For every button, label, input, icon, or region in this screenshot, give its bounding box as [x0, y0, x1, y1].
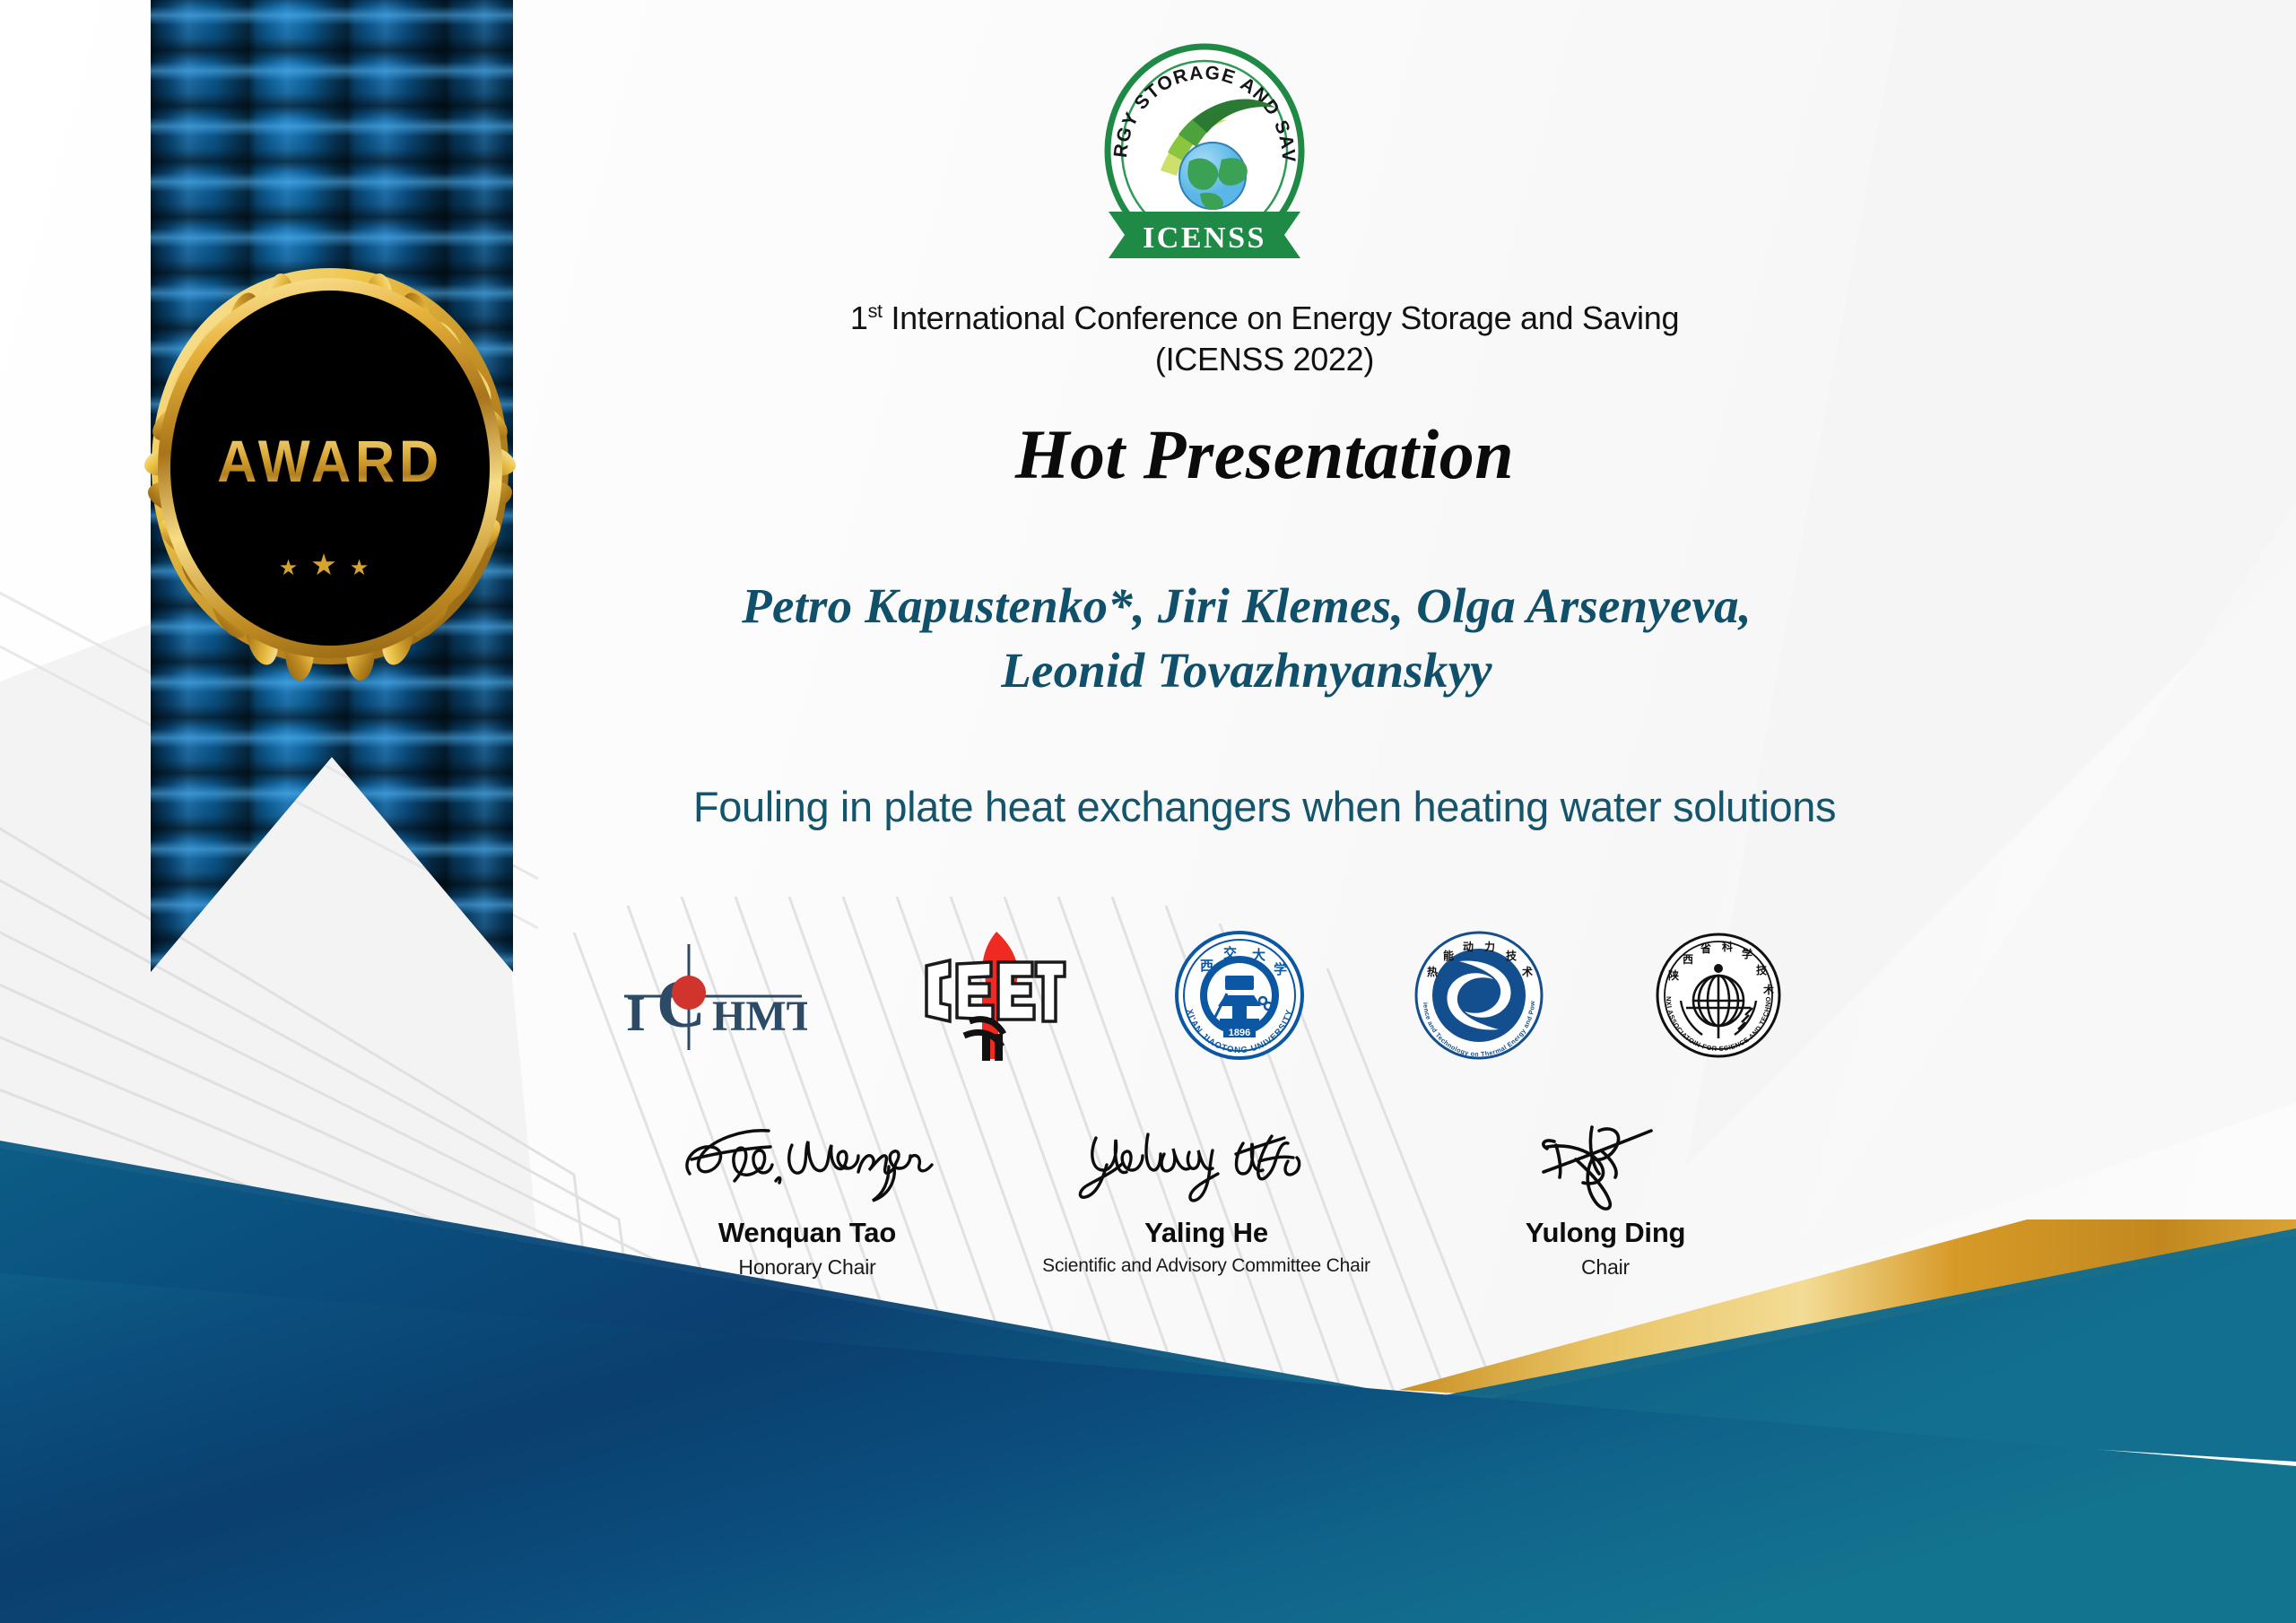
paper-title: Fouling in plate heat exchangers when he… [377, 782, 2152, 831]
svg-text:ICENSS: ICENSS [1143, 221, 1266, 255]
award-category-title: Hot Presentation [377, 414, 2152, 495]
svg-text:西: 西 [1200, 959, 1213, 974]
svg-text:技: 技 [1756, 963, 1768, 976]
shaanxi-association-science-technology-logo: SHAANXI ASSOCIATOIN FOR SCIENCE AND TECH… [1652, 929, 1785, 1062]
certificate-canvas: AWARD ★★★ ENERGY STORAGE AND SAVING [0, 0, 2296, 1623]
bottom-wave-decoration [0, 1121, 2296, 1623]
svg-text:科: 科 [1722, 940, 1733, 953]
svg-text:术: 术 [1762, 983, 1774, 996]
author-line-2: Leonid Tovazhnyanskyy [448, 638, 2045, 703]
xian-jiaotong-university-logo: 1896 XI'AN JIAOTONG UNIVERSITY 西交大学 [1173, 929, 1306, 1062]
svg-text:动: 动 [1463, 941, 1474, 953]
ichmt-logo: I C HMT [619, 937, 807, 1054]
svg-text:陕: 陕 [1668, 968, 1679, 982]
svg-text:西: 西 [1683, 953, 1693, 966]
svg-text:交: 交 [1223, 945, 1237, 961]
svg-text:大: 大 [1252, 947, 1265, 963]
conference-title-line1: 1st International Conference on Energy S… [850, 299, 1679, 336]
svg-text:能: 能 [1443, 949, 1454, 962]
thermal-energy-power-lab-logo: Science and Technology on Thermal Energy… [1413, 929, 1545, 1062]
svg-text:HMT: HMT [712, 993, 807, 1040]
svg-text:学: 学 [1274, 961, 1287, 977]
conference-title: 1st International Conference on Energy S… [377, 298, 2152, 380]
svg-text:省: 省 [1700, 942, 1711, 955]
ordinal-suffix: st [868, 299, 883, 322]
svg-text:力: 力 [1484, 940, 1495, 953]
author-line-1: Petro Kapustenko*, Jiri Klemes, Olga Ars… [448, 574, 2045, 638]
sponsor-logo-row: I C HMT [619, 924, 1785, 1067]
svg-text:1896: 1896 [1229, 1028, 1250, 1038]
svg-text:术: 术 [1521, 965, 1533, 978]
svg-text:热: 热 [1427, 965, 1438, 978]
iset-logo [914, 928, 1066, 1063]
author-names: Petro Kapustenko*, Jiri Klemes, Olga Ars… [448, 574, 2045, 702]
svg-text:学: 学 [1742, 947, 1752, 960]
svg-text:I: I [626, 986, 646, 1042]
icenss-logo: ENERGY STORAGE AND SAVING ICENSS [1092, 27, 1317, 271]
conference-title-line2: (ICENSS 2022) [377, 339, 2152, 380]
svg-text:技: 技 [1506, 949, 1518, 962]
